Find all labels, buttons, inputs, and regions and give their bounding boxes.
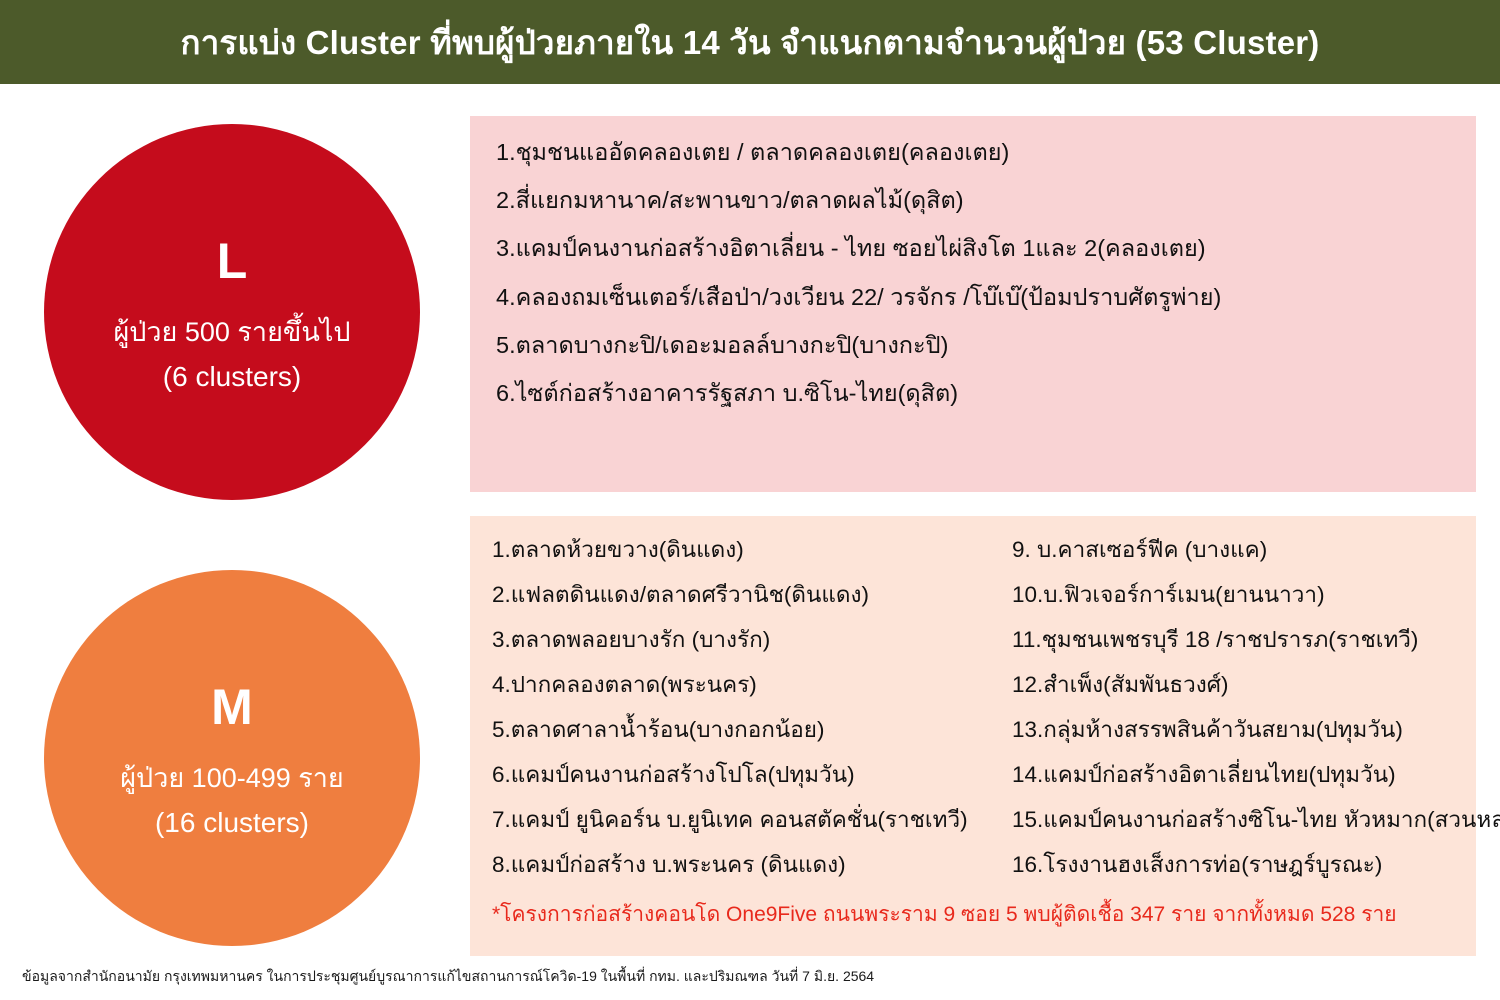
- list-item: 16.โรงงานฮงเส็งการท่อ(ราษฎร์บูรณะ): [1012, 851, 1482, 878]
- list-item: 2.แฟลตดินแดง/ตลาดศรีวานิช(ดินแดง): [492, 581, 1002, 608]
- cluster-list-column-right: 9. บ.คาสเซอร์ฟีค (บางแค) 10.บ.ฟิวเจอร์กา…: [1012, 536, 1482, 896]
- list-item: 4.คลองถมเซ็นเตอร์/เสือป่า/วงเวียน 22/ วร…: [496, 283, 1450, 311]
- list-item: 5.ตลาดบางกะปิ/เดอะมอลล์บางกะปิ(บางกะปิ): [496, 331, 1450, 359]
- cluster-circle-m: M ผู้ป่วย 100-499 ราย (16 clusters): [44, 570, 420, 946]
- list-item: 1.ชุมชนแออัดคลองเตย / ตลาดคลองเตย(คลองเต…: [496, 138, 1450, 166]
- cluster-criteria-m: ผู้ป่วย 100-499 ราย: [120, 760, 344, 796]
- cluster-count-l: (6 clusters): [163, 358, 301, 396]
- list-item: 11.ชุมชนเพชรบุรี 18 /ราชปรารภ(ราชเทวี): [1012, 626, 1482, 653]
- cluster-list-column-left: 1.ตลาดห้วยขวาง(ดินแดง) 2.แฟลตดินแดง/ตลาด…: [492, 536, 1002, 896]
- list-item: 3.แคมป์คนงานก่อสร้างอิตาเลี่ยน - ไทย ซอย…: [496, 234, 1450, 262]
- cluster-circle-l: L ผู้ป่วย 500 รายขึ้นไป (6 clusters): [44, 124, 420, 500]
- cluster-count-m: (16 clusters): [155, 804, 309, 842]
- cluster-list-panel-l: 1.ชุมชนแออัดคลองเตย / ตลาดคลองเตย(คลองเต…: [470, 116, 1476, 492]
- list-item: 7.แคมป์ ยูนิคอร์น บ.ยูนิเทค คอนสตัคชั่น(…: [492, 806, 1002, 833]
- list-item: 6.ไซต์ก่อสร้างอาคารรัฐสภา บ.ซิโน-ไทย(ดุส…: [496, 379, 1450, 407]
- list-item: 9. บ.คาสเซอร์ฟีค (บางแค): [1012, 536, 1482, 563]
- list-item: 12.สำเพ็ง(สัมพันธวงศ์): [1012, 671, 1482, 698]
- infographic-page: การแบ่ง Cluster ที่พบผู้ป่วยภายใน 14 วัน…: [0, 0, 1500, 1000]
- list-item: 3.ตลาดพลอยบางรัก (บางรัก): [492, 626, 1002, 653]
- cluster-footnote: *โครงการก่อสร้างคอนโด One9Five ถนนพระราม…: [492, 898, 1456, 931]
- list-item: 14.แคมป์ก่อสร้างอิตาเลี่ยนไทย(ปทุมวัน): [1012, 761, 1482, 788]
- cluster-letter-l: L: [217, 228, 248, 296]
- source-note: ข้อมูลจากสำนักอนามัย กรุงเทพมหานคร ในการ…: [22, 966, 874, 988]
- cluster-letter-m: M: [211, 674, 253, 742]
- list-item: 10.บ.ฟิวเจอร์การ์เมน(ยานนาวา): [1012, 581, 1482, 608]
- list-item: 2.สี่แยกมหานาค/สะพานขาว/ตลาดผลไม้(ดุสิต): [496, 186, 1450, 214]
- cluster-criteria-l: ผู้ป่วย 500 รายขึ้นไป: [113, 314, 350, 350]
- cluster-list-panel-m: 1.ตลาดห้วยขวาง(ดินแดง) 2.แฟลตดินแดง/ตลาด…: [470, 516, 1476, 956]
- list-item: 15.แคมป์คนงานก่อสร้างซิโน-ไทย หัวหมาก(สว…: [1012, 806, 1482, 833]
- list-item: 13.กลุ่มห้างสรรพสินค้าวันสยาม(ปทุมวัน): [1012, 716, 1482, 743]
- header-bar: การแบ่ง Cluster ที่พบผู้ป่วยภายใน 14 วัน…: [0, 0, 1500, 84]
- list-item: 6.แคมป์คนงานก่อสร้างโปโล(ปทุมวัน): [492, 761, 1002, 788]
- page-title: การแบ่ง Cluster ที่พบผู้ป่วยภายใน 14 วัน…: [181, 16, 1320, 69]
- cluster-list-columns: 1.ตลาดห้วยขวาง(ดินแดง) 2.แฟลตดินแดง/ตลาด…: [492, 536, 1456, 896]
- list-item: 8.แคมป์ก่อสร้าง บ.พระนคร (ดินแดง): [492, 851, 1002, 878]
- list-item: 4.ปากคลองตลาด(พระนคร): [492, 671, 1002, 698]
- list-item: 1.ตลาดห้วยขวาง(ดินแดง): [492, 536, 1002, 563]
- list-item: 5.ตลาดศาลาน้ำร้อน(บางกอกน้อย): [492, 716, 1002, 743]
